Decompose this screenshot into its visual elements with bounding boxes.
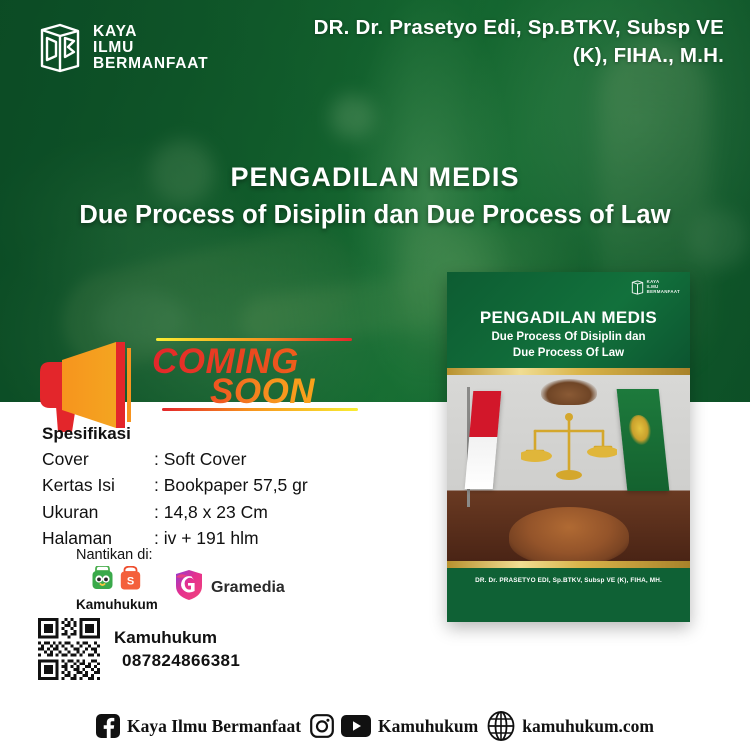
facebook-link[interactable]: Kaya Ilmu Bermanfaat xyxy=(96,714,301,738)
spec-key: Ukuran xyxy=(42,499,154,525)
soon-text: SOON xyxy=(210,372,315,412)
tokopedia-icon[interactable] xyxy=(91,566,114,595)
scales-of-justice-icon xyxy=(521,411,617,491)
book-logo-line-3: BERMANFAAT xyxy=(647,290,680,295)
website-label: kamuhukum.com xyxy=(522,716,654,737)
poster: KAYA ILMU BERMANFAAT DR. Dr. Prasetyo Ed… xyxy=(0,0,750,750)
book-subtitle-line-2: Due Process Of Law xyxy=(447,346,690,362)
instagram-icon[interactable] xyxy=(310,714,334,738)
social-links[interactable]: Kamuhukum xyxy=(310,714,478,738)
page-subtitle: Due Process of Disiplin dan Due Process … xyxy=(0,201,750,230)
spec-value: : 14,8 x 23 Cm xyxy=(154,499,268,525)
brand-line-2: ILMU xyxy=(93,40,208,56)
book-author-byline: DR. Dr. PRASETYO EDI, Sp.BTKV, Subsp VE … xyxy=(447,568,690,584)
globe-icon[interactable] xyxy=(487,711,515,741)
gramedia-icon xyxy=(172,568,206,607)
footer-bar: Kaya Ilmu Bermanfaat Kamuhukum xyxy=(0,702,750,750)
spec-value: : Bookpaper 57,5 gr xyxy=(154,472,308,498)
book-subtitle: Due Process Of Disiplin dan Due Process … xyxy=(447,330,690,361)
book-cover-photo xyxy=(447,375,690,561)
svg-text:S: S xyxy=(127,576,134,588)
table-row: Kertas Isi : Bookpaper 57,5 gr xyxy=(42,472,308,498)
spec-key: Kertas Isi xyxy=(42,472,154,498)
green-institution-flag xyxy=(617,389,670,491)
brand-wordmark: KAYA ILMU BERMANFAAT xyxy=(93,24,208,71)
gold-divider-top xyxy=(447,368,690,375)
spec-key: Cover xyxy=(42,446,154,472)
youtube-icon[interactable] xyxy=(341,715,371,737)
qr-code-icon[interactable] xyxy=(38,618,100,680)
shopee-icon[interactable]: S xyxy=(119,566,142,595)
spesifikasi-table: Cover : Soft Cover Kertas Isi : Bookpape… xyxy=(42,446,308,551)
flag-emblem xyxy=(627,415,652,445)
book-title: PENGADILAN MEDIS xyxy=(447,308,690,328)
garuda-wood-carving xyxy=(509,507,629,561)
brand-line-3: BERMANFAAT xyxy=(93,56,208,72)
store-label: Kamuhukum xyxy=(76,597,158,612)
page-title: PENGADILAN MEDIS xyxy=(0,162,750,193)
badge-accent-line-bottom xyxy=(162,408,358,411)
kaya-ilmu-bermanfaat-logo-icon xyxy=(631,280,644,295)
facebook-label: Kaya Ilmu Bermanfaat xyxy=(127,716,301,737)
website-link[interactable]: kamuhukum.com xyxy=(487,711,654,741)
gramedia-link[interactable]: Gramedia xyxy=(172,568,285,607)
gold-divider-bottom xyxy=(447,561,690,568)
table-row: Ukuran : 14,8 x 23 Cm xyxy=(42,499,308,525)
store-icons: S xyxy=(91,566,142,595)
book-brand-wordmark: KAYA ILMU BERMANFAAT xyxy=(647,280,680,295)
book-cover-mockup: KAYA ILMU BERMANFAAT PENGADILAN MEDIS Du… xyxy=(447,272,690,622)
table-row: Cover : Soft Cover xyxy=(42,446,308,472)
book-subtitle-line-1: Due Process Of Disiplin dan xyxy=(447,330,690,346)
spesifikasi-heading: Spesifikasi xyxy=(42,424,131,444)
author-credentials: DR. Dr. Prasetyo Edi, Sp.BTKV, Subsp VE … xyxy=(294,14,724,71)
gramedia-label: Gramedia xyxy=(211,579,285,597)
spec-value: : Soft Cover xyxy=(154,446,246,472)
spec-value: : iv + 191 hlm xyxy=(154,525,259,551)
megaphone-icon xyxy=(32,336,148,434)
coming-soon-badge: COMING SOON xyxy=(148,336,358,412)
badge-accent-line-top xyxy=(156,338,352,341)
social-label: Kamuhukum xyxy=(378,716,478,737)
facebook-icon[interactable] xyxy=(96,714,120,738)
brand-line-1: KAYA xyxy=(93,24,208,40)
book-brand-logo: KAYA ILMU BERMANFAAT xyxy=(631,280,680,295)
hero-title-block: PENGADILAN MEDIS Due Process of Disiplin… xyxy=(0,162,750,230)
indonesia-flag xyxy=(465,391,502,489)
kaya-ilmu-bermanfaat-logo-icon xyxy=(38,22,82,74)
marketplace-heading: Nantikan di: xyxy=(76,547,153,563)
brand-logo: KAYA ILMU BERMANFAAT xyxy=(38,22,208,74)
contact-text: Kamuhukum 087824866381 xyxy=(114,628,240,671)
contact-name: Kamuhukum xyxy=(114,628,240,648)
marketplace-list: S Kamuhukum xyxy=(76,566,158,612)
garuda-emblem-wall xyxy=(541,379,597,405)
contact-phone: 087824866381 xyxy=(122,651,240,671)
contact-block: Kamuhukum 087824866381 xyxy=(38,618,240,680)
kamuhukum-stores[interactable]: S Kamuhukum xyxy=(76,566,158,612)
book-cover-header: KAYA ILMU BERMANFAAT PENGADILAN MEDIS Du… xyxy=(447,272,690,368)
